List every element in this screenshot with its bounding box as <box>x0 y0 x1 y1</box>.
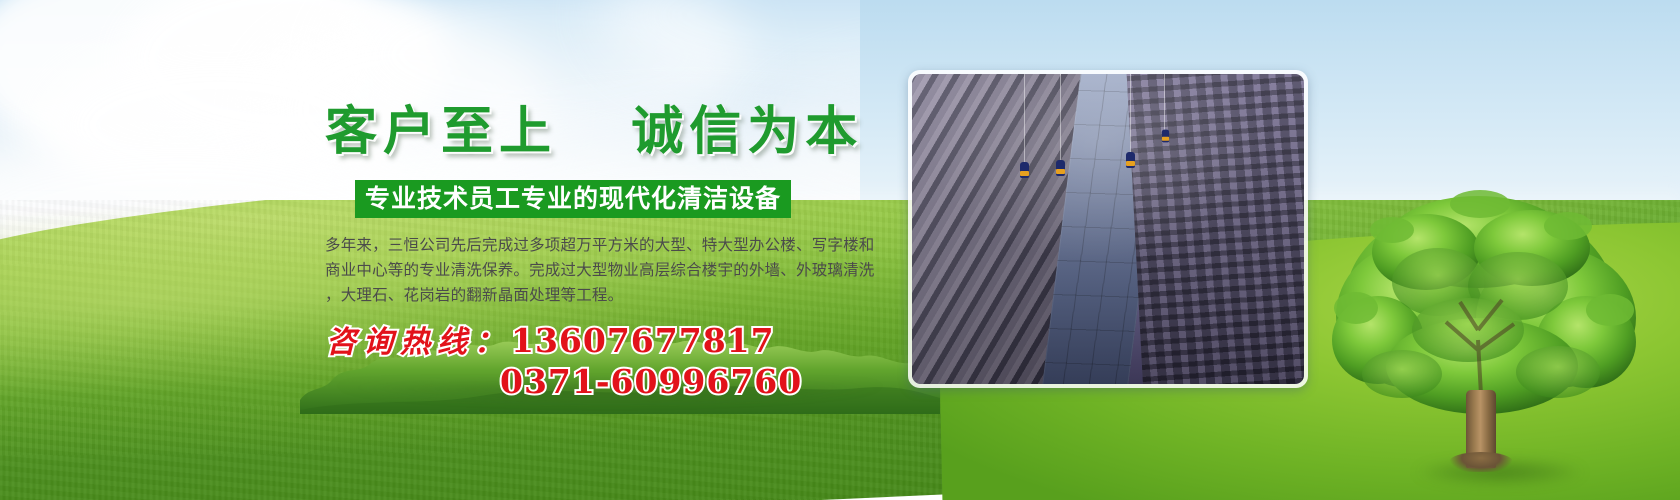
big-tree <box>1318 190 1648 480</box>
hotline-mobile-number[interactable]: 13607677817 <box>511 321 775 360</box>
banner-headline: 客户至上 诚信为本 <box>325 106 863 158</box>
tree-trunk <box>1466 390 1496 468</box>
building-photo-frame <box>908 70 1308 388</box>
hotline-label: 咨询热线： <box>326 325 511 360</box>
tree-canopy <box>1318 190 1648 420</box>
hotline-block: 咨询热线：13607677817 0371-60996760 <box>326 322 786 402</box>
promo-banner: 客户至上 诚信为本 专业技术员工专业的现代化清洁设备 多年来，三恒公司先后完成过… <box>0 0 1680 500</box>
hotline-landline-number[interactable]: 0371-60996760 <box>326 362 786 402</box>
worker-figure <box>1056 160 1065 176</box>
subtitle-bar: 专业技术员工专业的现代化清洁设备 <box>355 180 791 218</box>
hotline-line-1: 咨询热线：13607677817 <box>326 322 786 362</box>
worker-figure <box>1020 162 1029 178</box>
paragraph-line: ，大理石、花岗岩的翻新晶面处理等工程。 <box>325 283 885 308</box>
worker-figure <box>1162 130 1169 143</box>
worker-figure <box>1126 152 1135 168</box>
paragraph-line: 多年来，三恒公司先后完成过多项超万平方米的大型、特大型办公楼、写字楼和 <box>325 233 885 258</box>
building-photo <box>912 74 1304 384</box>
paragraph-line: 商业中心等的专业清洗保养。完成过大型物业高层综合楼宇的外墙、外玻璃清洗 <box>325 258 885 283</box>
headline-part-2: 诚信为本 <box>631 101 863 162</box>
description-paragraph: 多年来，三恒公司先后完成过多项超万平方米的大型、特大型办公楼、写字楼和 商业中心… <box>325 233 885 308</box>
headline-part-1: 客户至上 <box>325 101 557 162</box>
